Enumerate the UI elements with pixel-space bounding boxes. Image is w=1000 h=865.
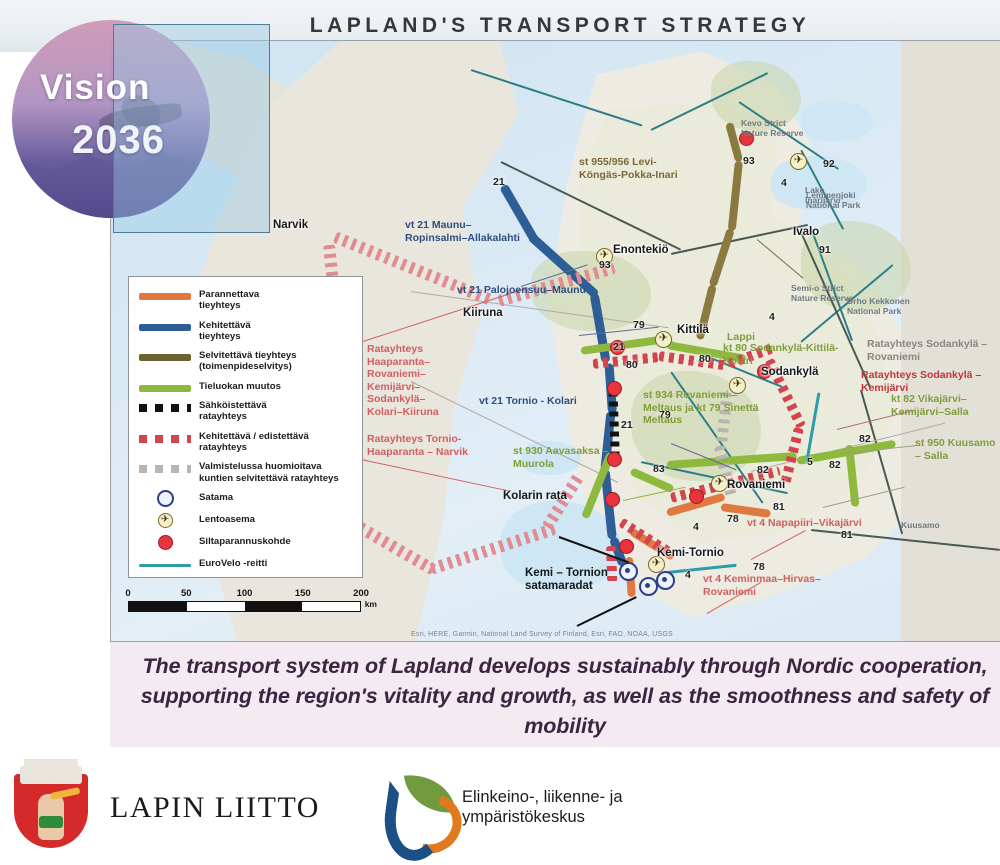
map-annotation: vt 4 Napapiiri–Vikajärvi bbox=[747, 517, 862, 530]
airport-icon[interactable]: ✈ bbox=[655, 331, 672, 348]
road-number-label: 82 bbox=[829, 459, 841, 471]
legend-item-label: Valmistelussa huomioitava kuntien selvit… bbox=[199, 461, 339, 484]
map-annotation: Ratayhteys Tornio- Haaparanta – Narvik bbox=[367, 433, 468, 458]
airport-icon: ✈ bbox=[139, 514, 191, 528]
scalebar-ticks: 050100150200 bbox=[128, 588, 361, 601]
scalebar-graphic bbox=[128, 601, 361, 612]
legend-item[interactable]: Valmistelussa huomioitava kuntien selvit… bbox=[139, 461, 354, 484]
legend-item[interactable]: ✈Lentoasema bbox=[139, 514, 354, 528]
city-label: Kittilä bbox=[677, 324, 709, 336]
legend-item-label: Parannettava tieyhteys bbox=[199, 289, 259, 312]
city-label: Sodankylä bbox=[761, 366, 819, 378]
lake bbox=[801, 101, 873, 141]
airport-icon[interactable]: ✈ bbox=[790, 153, 807, 170]
line-orange bbox=[139, 293, 191, 300]
legend-item[interactable]: Siltaparannuskohde bbox=[139, 536, 354, 550]
legend-item[interactable]: Kehitettävä tieyhteys bbox=[139, 320, 354, 343]
reserve-label: Kuusamo bbox=[901, 521, 940, 531]
scalebar-tick: 200 bbox=[353, 588, 369, 599]
footer: LAPIN LIITTO Elinkeino-, liikenne- ja ym… bbox=[0, 747, 1000, 861]
harbour-icon bbox=[139, 492, 191, 506]
lapin-liitto-wordmark: LAPIN LIITTO bbox=[110, 791, 320, 825]
map-annotation: kt 80 Sodankylä-Kittilä- Kolari bbox=[723, 342, 839, 367]
legend-item-label: Kehitettävä / edistettävä ratayhteys bbox=[199, 431, 309, 454]
harbour-icon[interactable] bbox=[656, 571, 675, 590]
map-annotation: vt 21 Tornio - Kolari bbox=[479, 395, 577, 408]
page-title: LAPLAND'S TRANSPORT STRATEGY bbox=[250, 14, 870, 38]
map-annotation: st 934 Rovaniemi – Meltaus ja kt 79 Sine… bbox=[643, 389, 759, 427]
dash-red bbox=[139, 435, 191, 443]
bridge-improvement-point[interactable] bbox=[689, 489, 704, 504]
bridge-improvement-point[interactable] bbox=[607, 452, 622, 467]
legend-item[interactable]: Sähköistettävä ratayhteys bbox=[139, 400, 354, 423]
map-annotation: Kolarin rata bbox=[503, 490, 567, 503]
map-annotation: vt 4 Keminmaa–Hirvas– Rovaniemi bbox=[703, 573, 821, 598]
road-number-label: 21 bbox=[493, 176, 505, 188]
airport-icon[interactable]: ✈ bbox=[711, 475, 728, 492]
bridge-improvement-point[interactable] bbox=[605, 492, 620, 507]
map-legend[interactable]: Parannettava tieyhteysKehitettävä tieyht… bbox=[128, 276, 363, 578]
ely-keskus-logo-icon bbox=[382, 773, 454, 839]
road-number-label: 21 bbox=[621, 419, 633, 431]
scalebar-unit: km bbox=[365, 599, 377, 609]
city-label: Kiiruna bbox=[463, 307, 503, 319]
road-number-label: 5 bbox=[807, 456, 813, 468]
road-number-label: 4 bbox=[781, 177, 787, 189]
road-number-label: 81 bbox=[773, 501, 785, 513]
road-number-label: 93 bbox=[599, 259, 611, 271]
line-green bbox=[139, 385, 191, 392]
road-number-label: 21 bbox=[613, 341, 625, 353]
reserve-label: Kevo Strict Nature Reserve bbox=[741, 119, 803, 138]
vision-label: Vision bbox=[40, 68, 280, 108]
legend-item-label: EuroVelo -reitti bbox=[199, 558, 267, 569]
ely-keskus-wordmark: Elinkeino-, liikenne- ja ympäristökeskus bbox=[462, 787, 623, 827]
map-annotation: kt 82 Vikajärvi– Kemijärvi–Salla bbox=[891, 393, 969, 418]
legend-item-label: Lentoasema bbox=[199, 514, 255, 525]
map-attribution: Esri, HERE, Garmin, National Land Survey… bbox=[411, 631, 673, 638]
legend-item-label: Satama bbox=[199, 492, 233, 503]
city-label: Enontekiö bbox=[613, 244, 669, 256]
map-annotation: Ratayhteys Sodankylä – Rovaniemi bbox=[867, 338, 987, 363]
city-label: Kemi-Tornio bbox=[657, 547, 724, 559]
map-annotation: st 950 Kuusamo – Salla bbox=[915, 437, 996, 462]
road-number-label: 4 bbox=[685, 569, 691, 581]
legend-item-label: Siltaparannuskohde bbox=[199, 536, 291, 547]
legend-item[interactable]: Tieluokan muutos bbox=[139, 381, 354, 392]
lapland-coat-of-arms-icon bbox=[14, 760, 88, 848]
legend-item-label: Selvitettävä tieyhteys (toimenpideselvit… bbox=[199, 350, 297, 373]
legend-rows: Parannettava tieyhteysKehitettävä tieyht… bbox=[129, 277, 362, 583]
bridge-improvement-point[interactable] bbox=[607, 381, 622, 396]
road-number-label: 93 bbox=[743, 155, 755, 167]
vision-year: 2036 bbox=[72, 118, 312, 163]
scalebar-tick: 0 bbox=[125, 588, 130, 599]
scalebar-tick: 50 bbox=[181, 588, 192, 599]
road-number-label: 4 bbox=[693, 521, 699, 533]
scalebar-tick: 150 bbox=[295, 588, 311, 599]
road-number-label: 78 bbox=[753, 561, 765, 573]
line-eurovelo bbox=[139, 564, 191, 567]
reserve-label: Lake Inarijärvi bbox=[805, 186, 840, 205]
vision-statement-text: The transport system of Lapland develops… bbox=[110, 651, 1000, 741]
road-number-label: 82 bbox=[757, 464, 769, 476]
map-annotation: vt 21 Palojoensuu–Maunu bbox=[457, 284, 586, 297]
road-number-label: 79 bbox=[633, 319, 645, 331]
city-label: Narvik bbox=[273, 219, 308, 231]
map-annotation: Ratayhteys Sodankylä – Kemijärvi bbox=[861, 369, 981, 394]
reserve-label: Semi-o Strict Nature Reserve bbox=[791, 284, 853, 303]
harbour-icon[interactable] bbox=[619, 562, 638, 581]
road-number-label: 80 bbox=[626, 359, 638, 371]
legend-item[interactable]: Selvitettävä tieyhteys (toimenpideselvit… bbox=[139, 350, 354, 373]
city-label: Rovaniemi bbox=[727, 479, 785, 491]
bridge-improvement-point[interactable] bbox=[619, 539, 634, 554]
map-annotation: st 930 Aavasaksa – Muurola bbox=[513, 445, 608, 470]
map-annotation: vt 21 Maunu– Ropinsalmi–Allakalahti bbox=[405, 219, 520, 244]
legend-item[interactable]: Satama bbox=[139, 492, 354, 506]
legend-item[interactable]: Kehitettävä / edistettävä ratayhteys bbox=[139, 431, 354, 454]
poster-root: LAPLAND'S TRANSPORT STRATEGY bbox=[0, 0, 1000, 861]
road-number-label: 92 bbox=[823, 158, 835, 170]
road-number-label: 82 bbox=[859, 433, 871, 445]
map-annotation: st 955/956 Levi- Köngäs-Pokka-Inari bbox=[579, 156, 678, 181]
map-annotation: Kemi – Tornion satamaradat bbox=[525, 567, 608, 592]
road-number-label: 4 bbox=[769, 311, 775, 323]
legend-item[interactable]: Parannettava tieyhteys bbox=[139, 289, 354, 312]
city-label: Ivalo bbox=[793, 226, 819, 238]
scalebar-tick: 100 bbox=[237, 588, 253, 599]
bridge-dot-icon bbox=[139, 536, 191, 550]
legend-item-label: Tieluokan muutos bbox=[199, 381, 281, 392]
line-brown bbox=[139, 354, 191, 361]
line-blue bbox=[139, 324, 191, 331]
legend-item-label: Sähköistettävä ratayhteys bbox=[199, 400, 267, 423]
legend-item[interactable]: EuroVelo -reitti bbox=[139, 558, 354, 569]
road-number-label: 81 bbox=[841, 529, 853, 541]
road-number-label: 91 bbox=[819, 244, 831, 256]
vision-statement-banner: The transport system of Lapland develops… bbox=[110, 642, 1000, 747]
dash-black bbox=[139, 404, 191, 412]
legend-item-label: Kehitettävä tieyhteys bbox=[199, 320, 251, 343]
reserve-label: Urho Kekkonen National Park bbox=[847, 297, 910, 316]
dash-grey bbox=[139, 465, 191, 473]
road-number-label: 78 bbox=[727, 513, 739, 525]
road-number-label: 80 bbox=[699, 353, 711, 365]
map-annotation: Ratayhteys Haaparanta– Rovaniemi– Kemijä… bbox=[367, 343, 439, 418]
map-scalebar: 050100150200 km bbox=[128, 588, 361, 612]
road-number-label: 83 bbox=[653, 463, 665, 475]
